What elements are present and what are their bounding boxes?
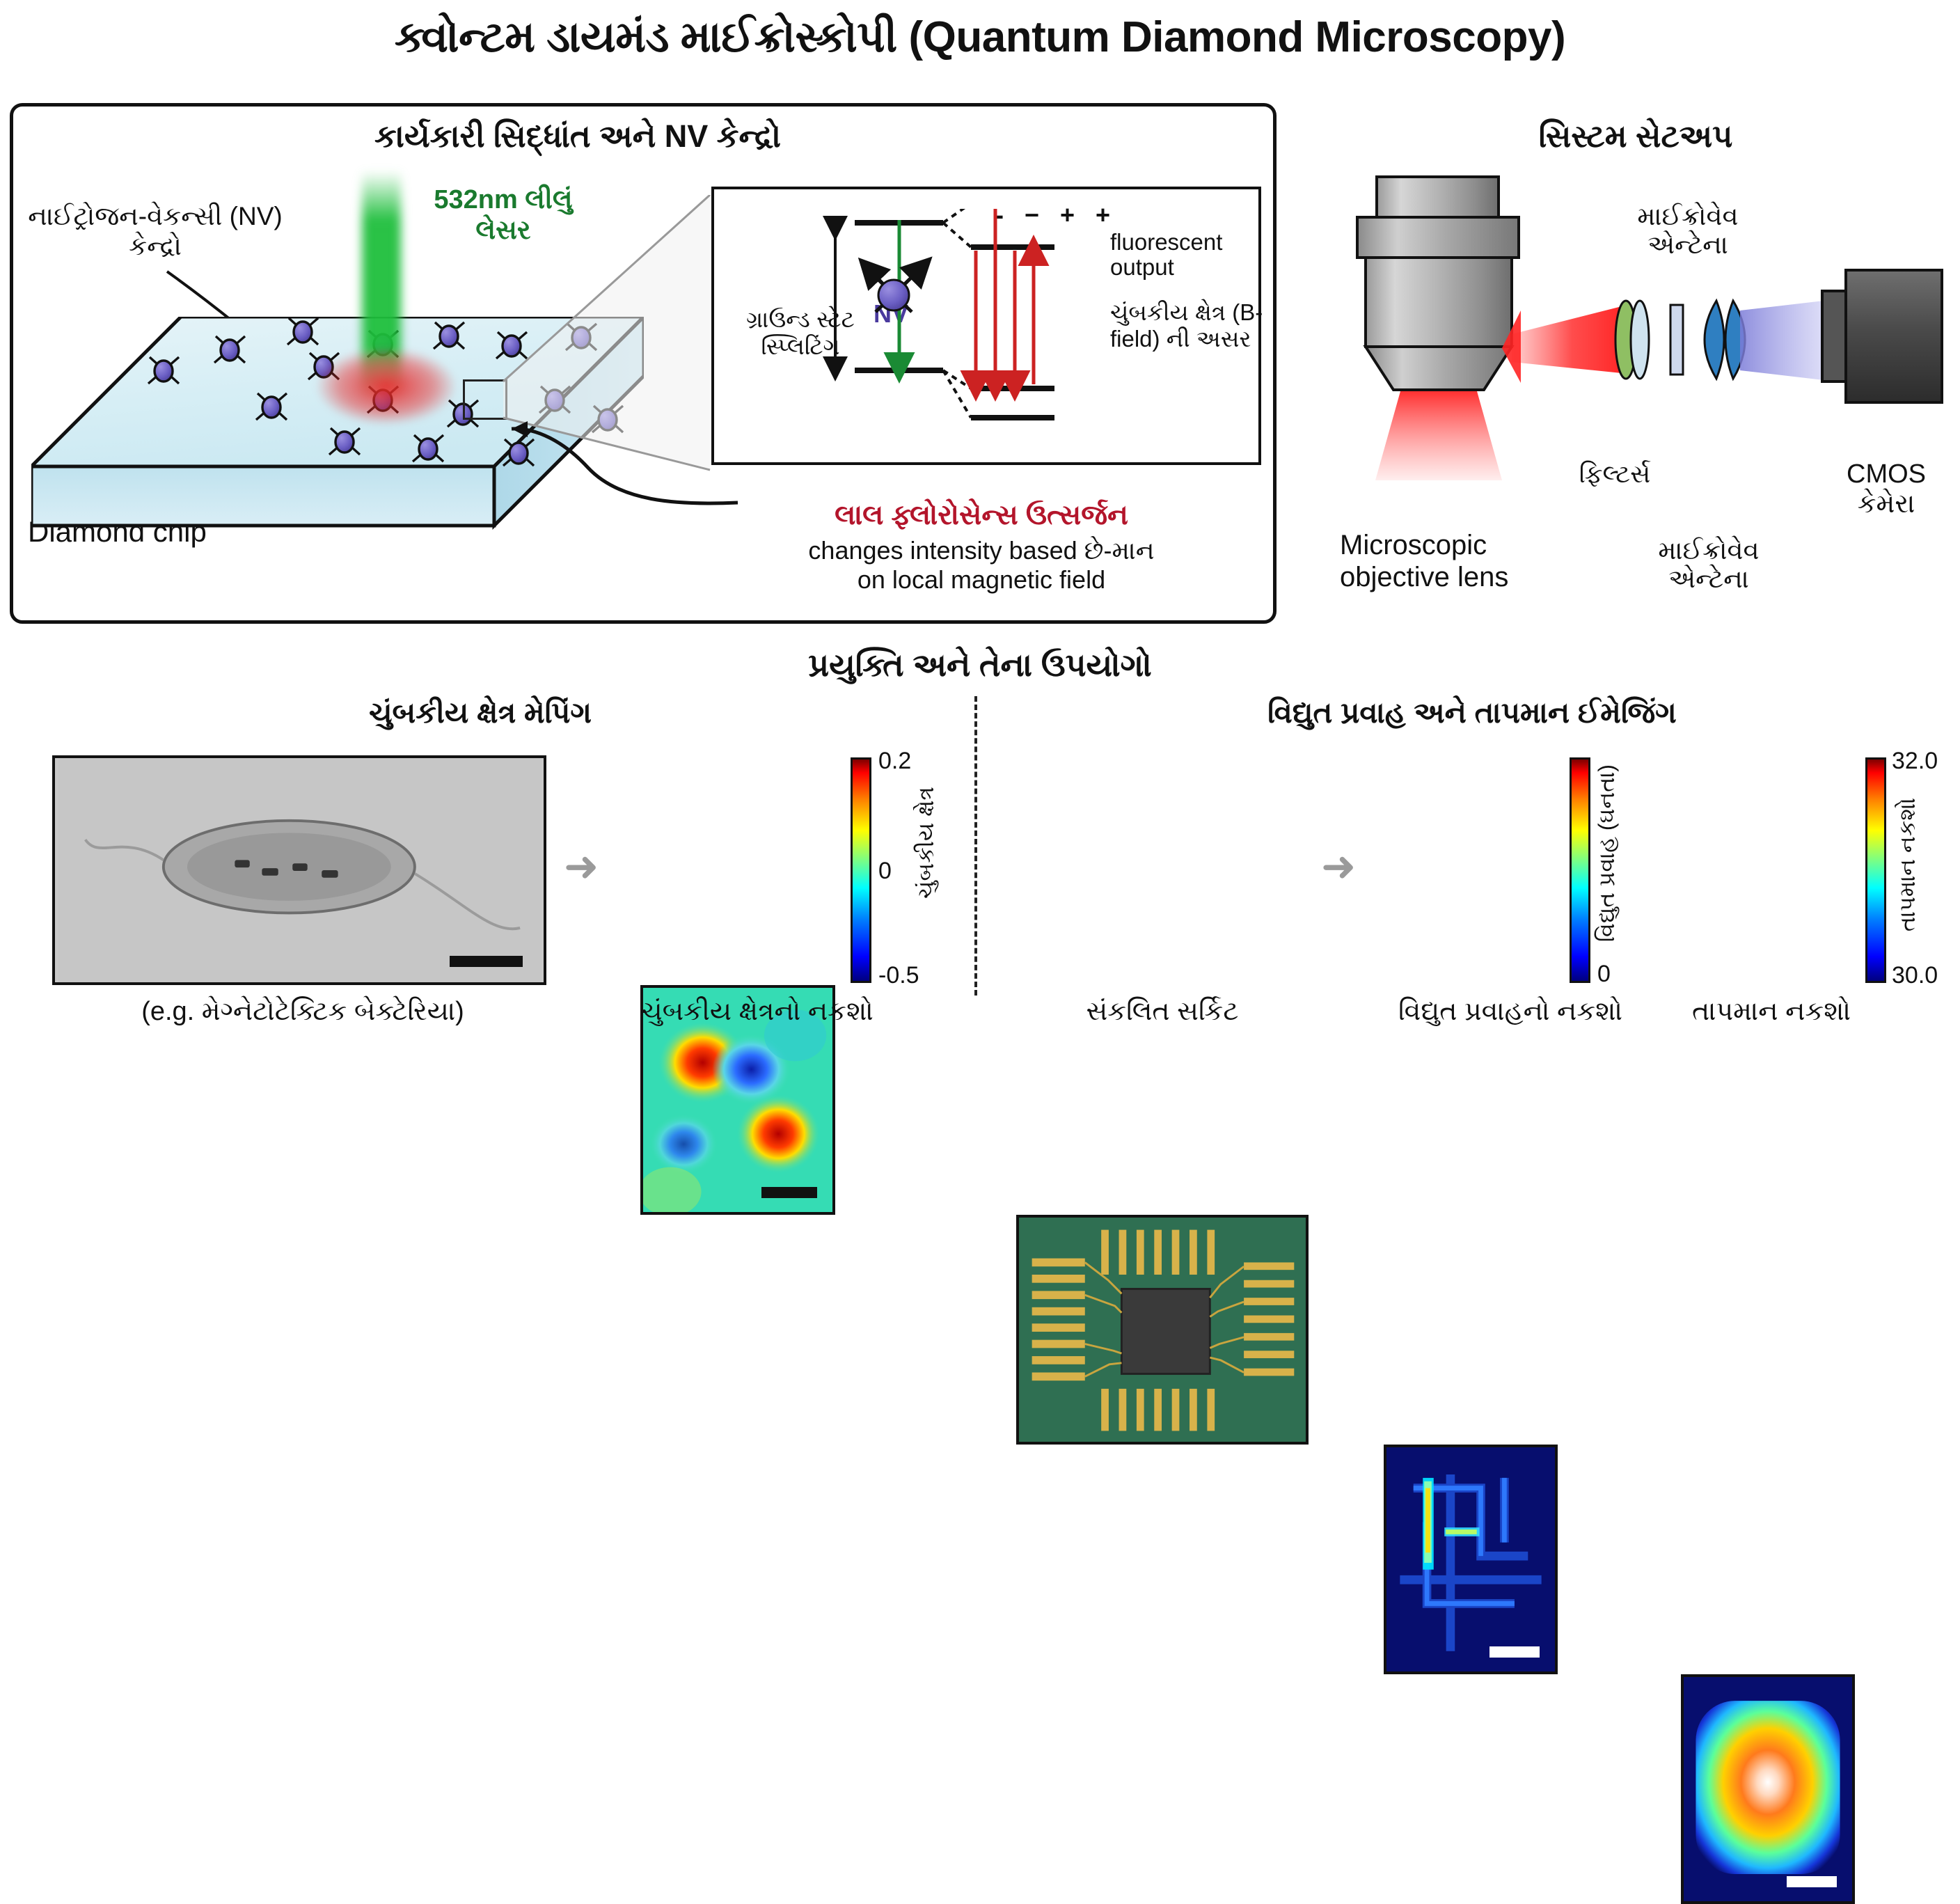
scale-bar (1787, 1876, 1837, 1887)
current-cbar-tick-min: 0 (1597, 961, 1611, 988)
current-cbar-label: વિદ્યુત પ્રવાહ (ઘનતા) (1594, 764, 1620, 942)
caption-temperature-map: તાપમાન નકશો (1657, 997, 1886, 1027)
section-divider (974, 696, 977, 996)
temperature-cbar-tick-min: 30.0 (1892, 962, 1938, 989)
magnetic-cbar-tick-min: -0.5 (878, 962, 919, 989)
energy-level-diagram (821, 209, 1114, 453)
emission-description: changes intensity based છે-માન on local … (689, 536, 1274, 595)
magnetic-cbar-tick-max: 0.2 (878, 748, 911, 775)
red-emission-pointer (445, 418, 745, 543)
electric-section-title: વિદ્યુત પ્રવાહ અને તાપમાન ઈમેજિંગ (1072, 696, 1872, 730)
temperature-cbar-label: તાપમાન નકશો (1895, 798, 1920, 931)
objective-lens-label: Microscopic objective lens (1340, 529, 1570, 593)
caption-magnetic-map: ચુંબકીય ક્ષેત્રનો નકશો (583, 997, 931, 1027)
applications-title: પ્રયુક્તિ અને તેના ઉપયોગો (0, 646, 1960, 685)
bfield-effect-label: ચુંબકીય ક્ષેત્ર (B-field) ની અસર (1110, 299, 1263, 353)
bacteria-micrograph (52, 755, 546, 985)
red-fluorescence-glow (317, 348, 456, 425)
current-density-map (1384, 1445, 1558, 1674)
scale-bar (761, 1187, 817, 1198)
filters-label: ફિલ્ટર્સ (1563, 459, 1667, 489)
magnetic-cbar-tick-mid: 0 (878, 858, 892, 885)
caption-current-map: વિદ્યુત પ્રવાહનો નકશો (1343, 997, 1677, 1027)
red-fluorescence-emission-label: લાલ ફ્લોરોસેન્સ ઉત્સર્જન (706, 500, 1256, 531)
arrow-right-1: ➜ (564, 846, 599, 888)
fluorescent-output-label: fluorescent output (1110, 230, 1260, 281)
magnetic-section-title: ચુંબકીય ક્ષેત્ર મેપિંગ (237, 696, 724, 730)
magnetic-colorbar (851, 757, 871, 983)
principle-panel-title: કાર્યકારી સિદ્ધાંત અને NV કેન્દ્રો (230, 118, 926, 155)
microwave-antenna-label-bottom: માઈક્રોવેવ એન્ટેના (1622, 536, 1796, 594)
setup-panel-title: સિસ્ટમ સેટઅપ (1322, 118, 1949, 155)
temperature-cbar-tick-max: 32.0 (1892, 748, 1938, 775)
temperature-map (1681, 1674, 1855, 1904)
page-title: ક્વોન્ટમ ડાયમંડ માઈક્રોસ્કોપી (Quantum D… (0, 13, 1960, 63)
magnetic-cbar-label: ચુંબકીય ક્ષેત્ર (913, 787, 939, 899)
integrated-circuit-photo (1016, 1215, 1309, 1445)
nv-center-label: નાઈટ્રોજન-વેકન્સી (NV) કેન્દ્રો (13, 202, 298, 261)
emission-desc-line2: on local magnetic field (689, 565, 1274, 595)
microwave-antenna-label-top: માઈક્રોવેવ એન્ટેના (1601, 202, 1775, 260)
arrow-right-2: ➜ (1321, 846, 1356, 888)
emission-desc-line1: changes intensity based છે-માન (689, 536, 1274, 565)
scale-bar (1489, 1646, 1540, 1658)
scale-bar (450, 956, 523, 967)
caption-bacteria: (e.g. મેગ્નેટોટેક્ટિક બેક્ટેરિયા) (28, 997, 578, 1027)
caption-integrated-circuit: સંકલિત સર્કિટ (1002, 997, 1322, 1027)
cmos-camera-label: CMOS કેમેરા (1817, 459, 1956, 519)
current-colorbar (1570, 757, 1590, 983)
temperature-colorbar (1865, 757, 1886, 983)
